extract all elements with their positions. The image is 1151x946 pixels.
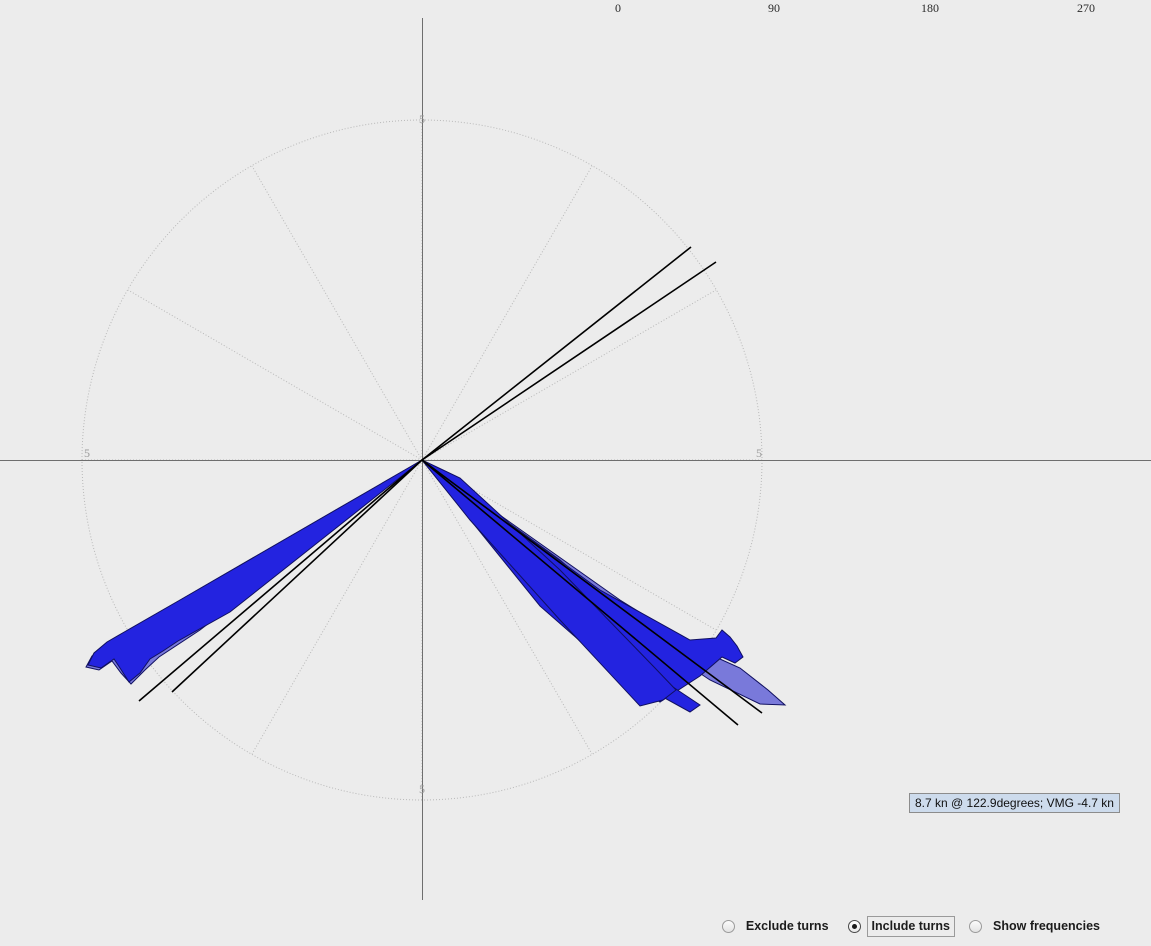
radio-button-icon[interactable] [969,920,982,933]
radio-option-include-turns[interactable]: Include turns [848,916,955,937]
value-readout-tooltip: 8.7 kn @ 122.9degrees; VMG -4.7 kn [909,793,1120,813]
track-line-port-2 [172,460,422,692]
ring-label-right: 5 [756,447,762,459]
radio-option-show-frequencies[interactable]: Show frequencies [969,916,1105,937]
track-line-stbd-1 [422,460,738,725]
lobe-starboard-d [422,460,676,706]
track-line-upwind-2 [422,262,716,460]
chart-axes [0,18,1151,900]
radio-label-show-frequencies[interactable]: Show frequencies [988,916,1105,937]
radio-label-exclude-turns[interactable]: Exclude turns [741,916,834,937]
ring-label-left: 5 [84,447,90,459]
track-line-port-1 [139,460,422,701]
radio-button-icon[interactable] [722,920,735,933]
radio-button-selected-icon[interactable] [848,920,861,933]
radio-label-include-turns[interactable]: Include turns [867,916,955,937]
polar-plot-application: 0 90 180 270 5 5 5 5 8.7 kn @ 122.9degre… [0,0,1151,946]
ring-label-top: 5 [419,113,425,125]
turn-mode-radio-group[interactable]: Exclude turns Include turns Show frequen… [0,906,1151,946]
radio-option-exclude-turns[interactable]: Exclude turns [722,916,834,937]
lobe-port-main [88,460,422,682]
track-line-stbd-2 [422,460,762,713]
track-line-upwind-1 [422,247,691,460]
ring-label-bottom: 5 [419,783,425,795]
